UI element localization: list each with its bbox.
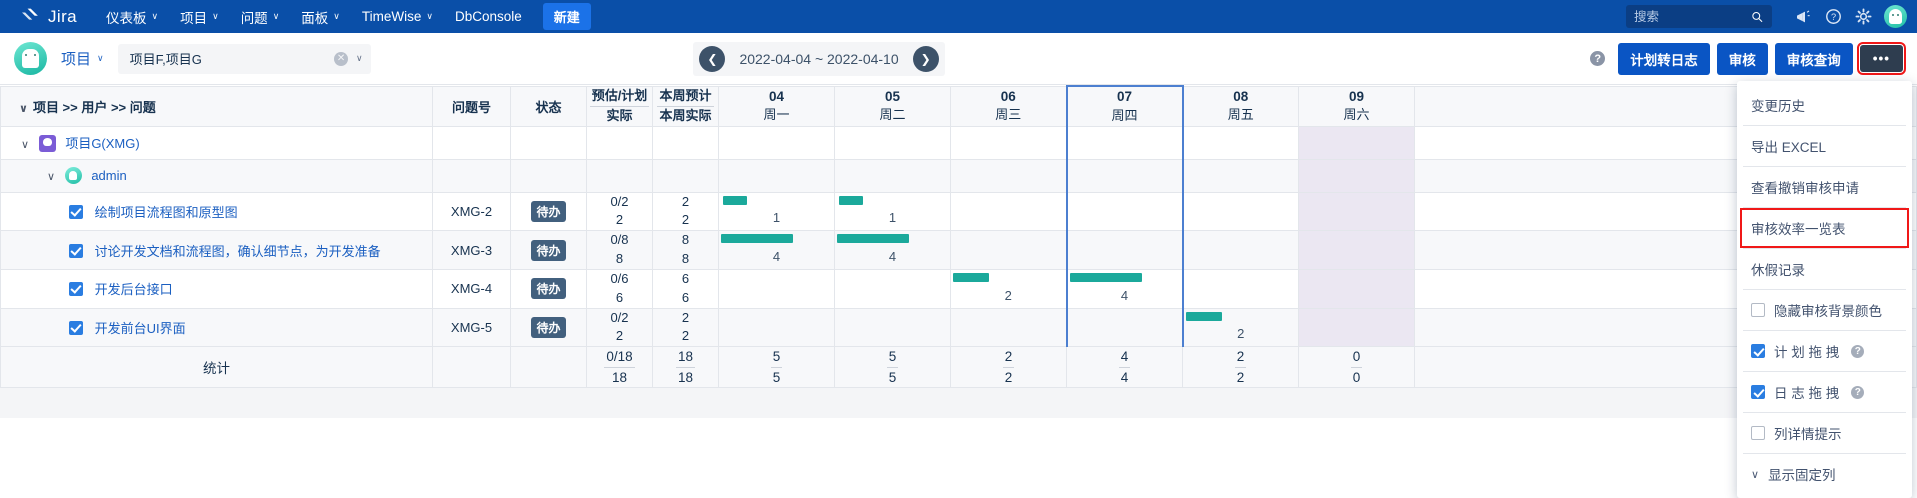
gantt-cell[interactable] bbox=[719, 126, 835, 159]
gantt-value bbox=[1068, 225, 1182, 230]
nav-item-dbconsole[interactable]: DbConsole bbox=[444, 0, 533, 33]
chevron-down-icon[interactable]: ∨ bbox=[47, 171, 55, 183]
estimate-top: 0/2 bbox=[610, 194, 628, 209]
total-week-top: 18 bbox=[676, 347, 695, 368]
status-cell: 待办 bbox=[511, 231, 587, 270]
project-icon bbox=[39, 135, 56, 152]
week-bottom: 2 bbox=[682, 212, 689, 227]
menu-separator bbox=[1743, 371, 1906, 372]
estimate-top: 0/8 bbox=[610, 232, 628, 247]
header-estimate-top: 预估/计划 bbox=[590, 87, 650, 107]
chevron-down-icon: ∨ bbox=[152, 11, 159, 22]
week-cell: 22 bbox=[653, 192, 719, 231]
gantt-cell[interactable] bbox=[719, 308, 835, 347]
menu-separator bbox=[1743, 248, 1906, 249]
avatar-ghost-icon bbox=[1889, 9, 1902, 24]
gantt-value bbox=[1299, 225, 1414, 230]
more-options-menu: 变更历史 导出 EXCEL 查看撤销审核申请 审核效率一览表 休假记录 隐藏审核… bbox=[1737, 81, 1912, 498]
menu-item-label: 显示固定列 bbox=[1768, 464, 1836, 484]
gantt-bar[interactable] bbox=[1186, 312, 1222, 321]
gantt-cell[interactable] bbox=[1183, 159, 1299, 192]
table-header-row: ∨项目 >> 用户 >> 问题 问题号 状态 预估/计划 实际 本周预计 本周实… bbox=[1, 86, 1917, 126]
top-navigation-bar: Jira 仪表板 ∨ 项目 ∨ 问题 ∨ 面板 ∨ TimeWise ∨ DbC… bbox=[0, 0, 1917, 33]
estimate-cell: 0/22 bbox=[587, 192, 653, 231]
gantt-value: 4 bbox=[719, 249, 834, 269]
gantt-cell[interactable] bbox=[835, 159, 951, 192]
task-label[interactable]: 开发后台接口 bbox=[95, 282, 173, 297]
cell-empty bbox=[433, 126, 511, 159]
review-query-button[interactable]: 审核查询 bbox=[1775, 43, 1853, 75]
gantt-cell[interactable] bbox=[951, 308, 1067, 347]
gantt-cell[interactable] bbox=[1067, 231, 1183, 270]
gantt-value bbox=[951, 264, 1066, 269]
total-day-bottom: 0 bbox=[1353, 370, 1361, 385]
gantt-cell[interactable]: 4 bbox=[835, 231, 951, 270]
day-number: 06 bbox=[951, 88, 1066, 106]
menu-checkbox-label: 计 划 拖 拽 bbox=[1774, 341, 1839, 361]
nav-label: 问题 bbox=[241, 7, 268, 27]
table-row[interactable]: 开发前台UI界面 XMG-5 待办 0/22 22 2 bbox=[1, 308, 1917, 347]
svg-text:?: ? bbox=[1830, 12, 1835, 22]
nav-label: 项目 bbox=[180, 7, 207, 27]
nav-item-issues[interactable]: 问题 ∨ bbox=[230, 0, 291, 33]
total-week-cell: 1818 bbox=[653, 347, 719, 388]
gantt-cell[interactable] bbox=[835, 126, 951, 159]
nav-item-dashboard[interactable]: 仪表板 ∨ bbox=[95, 0, 169, 33]
checkbox-icon[interactable] bbox=[1751, 385, 1765, 399]
chevron-down-icon: ∨ bbox=[333, 11, 340, 22]
search-icon[interactable] bbox=[1751, 10, 1764, 24]
chevron-down-icon: ∨ bbox=[97, 53, 104, 64]
week-bottom: 2 bbox=[682, 328, 689, 343]
gantt-value bbox=[719, 341, 834, 346]
gantt-cell[interactable]: 4 bbox=[719, 231, 835, 270]
gantt-bar[interactable] bbox=[839, 196, 863, 205]
total-day-top: 4 bbox=[1119, 347, 1131, 368]
gantt-bar[interactable] bbox=[721, 234, 793, 243]
table-row[interactable]: 开发后台接口 XMG-4 待办 0/66 66 2 4 bbox=[1, 269, 1917, 308]
gantt-value: 4 bbox=[835, 249, 950, 269]
table-row-project-group[interactable]: ∨ 项目G(XMG) bbox=[1, 126, 1917, 159]
status-cell: 待办 bbox=[511, 269, 587, 308]
project-group-cell[interactable]: ∨ 项目G(XMG) bbox=[1, 126, 433, 159]
table-row-user-group[interactable]: ∨ admin bbox=[1, 159, 1917, 192]
total-day-bottom: 2 bbox=[1237, 370, 1245, 385]
help-icon[interactable]: ? bbox=[1818, 0, 1848, 33]
nav-label: 面板 bbox=[301, 7, 328, 27]
header-day-05[interactable]: 05 周二 bbox=[835, 86, 951, 126]
total-day-top: 5 bbox=[887, 347, 899, 368]
week-top: 6 bbox=[682, 271, 689, 286]
gantt-cell-weekend[interactable] bbox=[1299, 231, 1415, 270]
issue-key[interactable]: XMG-2 bbox=[433, 192, 511, 231]
gantt-cell[interactable] bbox=[1067, 308, 1183, 347]
help-icon[interactable]: ? bbox=[1851, 345, 1864, 358]
total-day-top: 2 bbox=[1235, 347, 1247, 368]
week-bottom: 8 bbox=[682, 251, 689, 266]
gantt-cell[interactable]: 2 bbox=[951, 269, 1067, 308]
gantt-value bbox=[719, 303, 834, 308]
header-day-07-today[interactable]: 07 周四 bbox=[1067, 86, 1183, 126]
header-week-top: 本周预计 bbox=[657, 87, 713, 107]
gantt-value bbox=[1068, 264, 1182, 269]
gantt-cell-weekend[interactable] bbox=[1299, 159, 1415, 192]
search-input[interactable] bbox=[1634, 10, 1751, 24]
gantt-table: ∨项目 >> 用户 >> 问题 问题号 状态 预估/计划 实际 本周预计 本周实… bbox=[0, 85, 1917, 388]
chevron-down-icon: ∨ bbox=[426, 11, 433, 22]
estimate-bottom: 6 bbox=[616, 290, 623, 305]
menu-separator bbox=[1743, 125, 1906, 126]
date-range-navigator: ❮ 2022-04-04 ~ 2022-04-10 ❯ bbox=[693, 42, 944, 76]
menu-checkbox-label: 隐藏审核背景颜色 bbox=[1774, 300, 1882, 320]
status-badge: 待办 bbox=[531, 240, 565, 261]
task-label[interactable]: 讨论开发文档和流程图，确认细节点，为开发准备 bbox=[95, 244, 381, 259]
gantt-value: 2 bbox=[1184, 326, 1299, 346]
cell-empty bbox=[653, 159, 719, 192]
gantt-cell[interactable]: 1 bbox=[719, 192, 835, 231]
estimate-bottom: 2 bbox=[616, 212, 623, 227]
gantt-value bbox=[1184, 303, 1299, 308]
header-issue-no[interactable]: 问题号 bbox=[433, 86, 511, 126]
menu-separator bbox=[1743, 412, 1906, 413]
total-day-top: 5 bbox=[771, 347, 783, 368]
menu-checkbox-hide-review-bg[interactable]: 隐藏审核背景颜色 bbox=[1737, 291, 1912, 329]
gantt-bar[interactable] bbox=[837, 234, 909, 243]
next-week-button[interactable]: ❯ bbox=[913, 46, 939, 72]
header-week-bottom: 本周实际 bbox=[659, 108, 711, 123]
user-group-label[interactable]: admin bbox=[91, 168, 126, 183]
day-weekday: 周一 bbox=[719, 106, 834, 124]
jira-logo-icon bbox=[22, 7, 41, 26]
total-day-top: 0 bbox=[1351, 347, 1363, 368]
cell-empty bbox=[511, 347, 587, 388]
task-checkbox[interactable] bbox=[69, 205, 83, 219]
create-button[interactable]: 新建 bbox=[543, 3, 591, 30]
ghost-icon bbox=[22, 49, 39, 68]
gantt-value bbox=[1068, 341, 1182, 346]
checkbox-icon[interactable] bbox=[1751, 344, 1765, 358]
gantt-cell[interactable] bbox=[719, 269, 835, 308]
gantt-value: 1 bbox=[835, 210, 950, 230]
gantt-value: 2 bbox=[951, 288, 1066, 308]
gantt-cell[interactable] bbox=[951, 192, 1067, 231]
gantt-cell[interactable] bbox=[1067, 192, 1183, 231]
header-estimate[interactable]: 预估/计划 实际 bbox=[587, 86, 653, 126]
gantt-bar[interactable] bbox=[953, 273, 989, 282]
chevron-down-icon[interactable]: ∨ bbox=[21, 139, 29, 151]
week-top: 2 bbox=[682, 310, 689, 325]
gantt-cell[interactable] bbox=[719, 159, 835, 192]
header-tree[interactable]: ∨项目 >> 用户 >> 问题 bbox=[1, 86, 433, 126]
checkbox-icon[interactable] bbox=[1751, 426, 1765, 440]
gantt-cell[interactable]: 1 bbox=[835, 192, 951, 231]
cell-empty bbox=[433, 159, 511, 192]
settings-gear-icon[interactable] bbox=[1848, 0, 1878, 33]
nav-item-boards[interactable]: 面板 ∨ bbox=[290, 0, 351, 33]
issue-key[interactable]: XMG-3 bbox=[433, 231, 511, 270]
nav-label: DbConsole bbox=[455, 9, 522, 24]
day-number: 04 bbox=[719, 88, 834, 106]
menu-separator bbox=[1743, 207, 1906, 208]
gantt-cell[interactable] bbox=[835, 308, 951, 347]
total-day-cell: 44 bbox=[1067, 347, 1183, 388]
week-bottom: 6 bbox=[682, 290, 689, 305]
header-status[interactable]: 状态 bbox=[511, 86, 587, 126]
gantt-value bbox=[835, 303, 950, 308]
menu-checkbox-plan-drag[interactable]: 计 划 拖 拽 ? bbox=[1737, 332, 1912, 370]
gantt-value bbox=[1184, 225, 1299, 230]
issue-key[interactable]: XMG-4 bbox=[433, 269, 511, 308]
gantt-cell[interactable] bbox=[1067, 159, 1183, 192]
gantt-cell[interactable] bbox=[1067, 126, 1183, 159]
day-weekday: 周六 bbox=[1299, 106, 1414, 124]
estimate-top: 0/6 bbox=[610, 271, 628, 286]
header-week[interactable]: 本周预计 本周实际 bbox=[653, 86, 719, 126]
project-select-value: 项目F,项目G bbox=[130, 49, 334, 68]
header-day-04[interactable]: 04 周一 bbox=[719, 86, 835, 126]
gantt-value bbox=[1299, 303, 1414, 308]
more-options-button[interactable]: ••• bbox=[1860, 45, 1903, 72]
menu-item-leave-records[interactable]: 休假记录 bbox=[1737, 250, 1912, 288]
gantt-cell[interactable] bbox=[1183, 269, 1299, 308]
gantt-value bbox=[951, 225, 1066, 230]
total-estimate-bottom: 18 bbox=[612, 370, 627, 385]
menu-separator bbox=[1743, 330, 1906, 331]
review-button[interactable]: 审核 bbox=[1717, 43, 1768, 75]
gantt-value bbox=[1299, 264, 1414, 269]
gantt-cell[interactable] bbox=[951, 231, 1067, 270]
status-cell: 待办 bbox=[511, 308, 587, 347]
estimate-bottom: 8 bbox=[616, 251, 623, 266]
header-day-08[interactable]: 08 周五 bbox=[1183, 86, 1299, 126]
prev-week-button[interactable]: ❮ bbox=[699, 46, 725, 72]
gantt-cell[interactable] bbox=[835, 269, 951, 308]
header-day-06[interactable]: 06 周三 bbox=[951, 86, 1067, 126]
gantt-cell[interactable] bbox=[951, 126, 1067, 159]
task-name-cell[interactable]: 开发前台UI界面 bbox=[1, 308, 433, 347]
total-day-cell: 00 bbox=[1299, 347, 1415, 388]
estimate-cell: 0/22 bbox=[587, 308, 653, 347]
task-name-cell[interactable]: 开发后台接口 bbox=[1, 269, 433, 308]
total-day-bottom: 4 bbox=[1121, 370, 1129, 385]
status-badge: 待办 bbox=[531, 317, 565, 338]
top-nav-right-group: ? bbox=[1626, 0, 1907, 33]
gantt-cell[interactable] bbox=[1183, 126, 1299, 159]
total-day-bottom: 5 bbox=[773, 370, 781, 385]
estimate-top: 0/2 bbox=[610, 310, 628, 325]
chevron-down-icon: ∨ bbox=[212, 11, 219, 22]
menu-item-review-efficiency-table[interactable]: 审核效率一览表 bbox=[1742, 210, 1907, 246]
header-tree-label: 项目 >> 用户 >> 问题 bbox=[33, 100, 156, 115]
chevron-down-icon: ∨ bbox=[273, 11, 280, 22]
gantt-bar[interactable] bbox=[1070, 273, 1142, 282]
status-badge: 待办 bbox=[531, 278, 565, 299]
week-cell: 22 bbox=[653, 308, 719, 347]
day-number: 07 bbox=[1068, 88, 1182, 106]
menu-separator bbox=[1743, 289, 1906, 290]
menu-item-export-excel[interactable]: 导出 EXCEL bbox=[1737, 127, 1912, 165]
header-estimate-bottom: 实际 bbox=[606, 108, 632, 123]
task-checkbox[interactable] bbox=[69, 244, 83, 258]
gantt-cell[interactable]: 2 bbox=[1183, 308, 1299, 347]
toolbar-help-icon[interactable]: ? bbox=[1590, 51, 1605, 66]
status-cell: 待办 bbox=[511, 192, 587, 231]
plan-to-log-button[interactable]: 计划转日志 bbox=[1618, 43, 1710, 75]
day-weekday: 周五 bbox=[1184, 106, 1299, 124]
gantt-value bbox=[835, 341, 950, 346]
nav-item-timewise[interactable]: TimeWise ∨ bbox=[351, 0, 444, 33]
week-cell: 66 bbox=[653, 269, 719, 308]
gantt-value bbox=[951, 341, 1066, 346]
gantt-bar[interactable] bbox=[723, 196, 747, 205]
menu-checkbox-log-drag[interactable]: 日 志 拖 拽 ? bbox=[1737, 373, 1912, 411]
search-box[interactable] bbox=[1626, 5, 1772, 28]
nav-item-projects[interactable]: 项目 ∨ bbox=[169, 0, 230, 33]
gantt-cell-weekend[interactable] bbox=[1299, 126, 1415, 159]
sub-header-actions: ? 计划转日志 审核 审核查询 ••• bbox=[1590, 43, 1903, 75]
menu-item-view-cancel-review[interactable]: 查看撤销审核申请 bbox=[1737, 168, 1912, 206]
chevron-down-icon[interactable]: ∨ bbox=[356, 53, 363, 64]
project-select-field[interactable]: 项目F,项目G ✕ ∨ bbox=[118, 44, 371, 74]
cell-empty bbox=[511, 159, 587, 192]
task-name-cell[interactable]: 绘制项目流程图和原型图 bbox=[1, 192, 433, 231]
board-avatar bbox=[14, 42, 47, 75]
date-range-text[interactable]: 2022-04-04 ~ 2022-04-10 bbox=[735, 51, 902, 67]
status-badge: 待办 bbox=[531, 201, 565, 222]
cell-empty bbox=[587, 159, 653, 192]
task-checkbox[interactable] bbox=[69, 282, 83, 296]
project-selector-label[interactable]: 项目 ∨ bbox=[61, 48, 104, 69]
week-top: 8 bbox=[682, 232, 689, 247]
cell-empty bbox=[511, 126, 587, 159]
total-day-bottom: 2 bbox=[1005, 370, 1013, 385]
gantt-cell[interactable]: 4 bbox=[1067, 269, 1183, 308]
total-label: 统计 bbox=[1, 347, 433, 388]
nav-label: 仪表板 bbox=[106, 7, 147, 27]
menu-separator bbox=[1743, 166, 1906, 167]
total-day-bottom: 5 bbox=[889, 370, 897, 385]
gantt-cell-weekend[interactable] bbox=[1299, 192, 1415, 231]
table-row-total: 统计 0/1818 1818 55 55 22 44 22 00 bbox=[1, 347, 1917, 388]
day-number: 08 bbox=[1184, 88, 1299, 106]
day-weekday: 周四 bbox=[1068, 107, 1182, 125]
gantt-cell-weekend[interactable] bbox=[1299, 308, 1415, 347]
estimate-cell: 0/88 bbox=[587, 231, 653, 270]
gantt-value: 1 bbox=[719, 210, 834, 230]
task-label[interactable]: 绘制项目流程图和原型图 bbox=[95, 205, 238, 220]
total-day-cell: 22 bbox=[951, 347, 1067, 388]
cell-empty bbox=[653, 126, 719, 159]
header-day-09[interactable]: 09 周六 bbox=[1299, 86, 1415, 126]
user-icon bbox=[65, 167, 82, 184]
total-day-cell: 22 bbox=[1183, 347, 1299, 388]
table-row[interactable]: 绘制项目流程图和原型图 XMG-2 待办 0/22 22 1 1 bbox=[1, 192, 1917, 231]
chevron-down-icon[interactable]: ∨ bbox=[19, 103, 28, 115]
gantt-value bbox=[1184, 264, 1299, 269]
gantt-cell[interactable] bbox=[1183, 231, 1299, 270]
user-avatar[interactable] bbox=[1884, 5, 1907, 28]
menu-item-show-fixed-columns[interactable]: ∨ 显示固定列 bbox=[1737, 455, 1912, 493]
week-top: 2 bbox=[682, 194, 689, 209]
menu-checkbox-label: 列详情提示 bbox=[1774, 423, 1842, 443]
bottom-strip bbox=[0, 388, 1917, 418]
menu-item-change-history[interactable]: 变更历史 bbox=[1737, 86, 1912, 124]
day-number: 09 bbox=[1299, 88, 1414, 106]
gantt-cell-weekend[interactable] bbox=[1299, 269, 1415, 308]
total-week-bottom: 18 bbox=[678, 370, 693, 385]
gantt-value bbox=[1299, 341, 1414, 346]
estimate-cell: 0/66 bbox=[587, 269, 653, 308]
gantt-cell[interactable] bbox=[1183, 192, 1299, 231]
project-label-text: 项目 bbox=[61, 48, 91, 69]
day-weekday: 周二 bbox=[835, 106, 950, 124]
gantt-value: 4 bbox=[1068, 288, 1182, 308]
menu-checkbox-label: 日 志 拖 拽 bbox=[1774, 382, 1839, 402]
task-label[interactable]: 开发前台UI界面 bbox=[95, 321, 186, 336]
issue-key[interactable]: XMG-5 bbox=[433, 308, 511, 347]
day-number: 05 bbox=[835, 88, 950, 106]
total-day-cell: 55 bbox=[835, 347, 951, 388]
task-checkbox[interactable] bbox=[69, 321, 83, 335]
day-weekday: 周三 bbox=[951, 106, 1066, 124]
total-estimate-cell: 0/1818 bbox=[587, 347, 653, 388]
sub-header-toolbar: 项目 ∨ 项目F,项目G ✕ ∨ ❮ 2022-04-04 ~ 2022-04-… bbox=[0, 33, 1917, 85]
menu-separator bbox=[1743, 453, 1906, 454]
clear-icon[interactable]: ✕ bbox=[334, 52, 348, 66]
jira-logo[interactable]: Jira bbox=[22, 7, 77, 27]
total-day-top: 2 bbox=[1003, 347, 1015, 368]
gantt-cell[interactable] bbox=[951, 159, 1067, 192]
brand-text: Jira bbox=[48, 7, 77, 27]
week-cell: 88 bbox=[653, 231, 719, 270]
menu-checkbox-column-tooltip[interactable]: 列详情提示 bbox=[1737, 414, 1912, 452]
user-group-cell[interactable]: ∨ admin bbox=[1, 159, 433, 192]
total-day-cell: 55 bbox=[719, 347, 835, 388]
estimate-bottom: 2 bbox=[616, 328, 623, 343]
nav-label: TimeWise bbox=[362, 9, 422, 24]
project-group-label[interactable]: 项目G(XMG) bbox=[65, 136, 139, 151]
notifications-icon[interactable] bbox=[1788, 0, 1818, 33]
checkbox-icon[interactable] bbox=[1751, 303, 1765, 317]
table-row[interactable]: 讨论开发文档和流程图，确认细节点，为开发准备 XMG-3 待办 0/88 88 … bbox=[1, 231, 1917, 270]
chevron-down-icon[interactable]: ∨ bbox=[1751, 468, 1759, 481]
total-estimate-top: 0/18 bbox=[604, 347, 634, 368]
help-icon[interactable]: ? bbox=[1851, 386, 1864, 399]
cell-empty bbox=[433, 347, 511, 388]
cell-empty bbox=[587, 126, 653, 159]
task-name-cell[interactable]: 讨论开发文档和流程图，确认细节点，为开发准备 bbox=[1, 231, 433, 270]
